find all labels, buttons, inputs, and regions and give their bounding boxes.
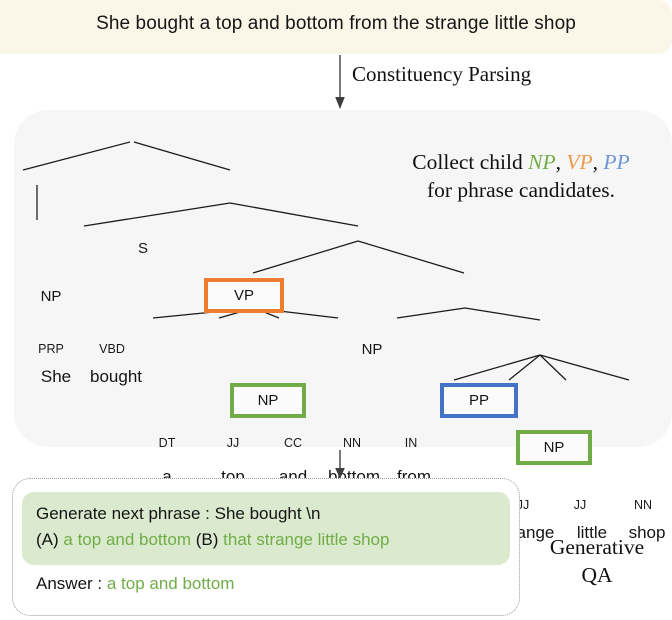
collect-note-sep-2: , — [593, 150, 604, 174]
tree-node-np-label-1: NP — [258, 392, 279, 409]
collect-child-note: Collect child NP, VP, PPfor phrase candi… — [386, 148, 656, 205]
tree-node-pp-label: PP — [469, 392, 489, 409]
option-b-text[interactable]: that strange little shop — [223, 530, 389, 549]
tree-node-np-object: NP — [362, 341, 383, 358]
generative-qa-side-label: Generative QA — [524, 534, 670, 590]
generative-qa-line-2: QA — [581, 563, 612, 587]
collect-note-suffix: for phrase candidates. — [427, 178, 615, 202]
option-a-tag: (A) — [36, 530, 59, 549]
parse-tree-panel: S NP NP VP NP PP NP PRP VBD DT JJ CC NN … — [14, 110, 672, 447]
qa-prompt-line-2: (A) a top and bottom (B) that strange li… — [36, 527, 496, 553]
pos-tag: NN — [343, 436, 361, 450]
leaf-word: She — [41, 367, 71, 387]
option-a-text[interactable]: a top and bottom — [63, 530, 191, 549]
tree-node-np-boxed-2[interactable]: NP — [516, 430, 592, 465]
leaf-word: bought — [90, 367, 142, 387]
input-sentence-text: She bought a top and bottom from the str… — [0, 13, 672, 35]
pos-tag: JJ — [574, 498, 587, 512]
collect-note-prefix: Collect child — [412, 150, 528, 174]
tree-node-np-subject: NP — [41, 288, 62, 305]
qa-answer-label: Answer : — [36, 574, 107, 593]
generative-qa-line-1: Generative — [550, 535, 644, 559]
qa-answer-text: a top and bottom — [107, 574, 235, 593]
qa-answer-line: Answer : a top and bottom — [36, 574, 234, 594]
pos-tag: NN — [634, 498, 652, 512]
pos-tag: PRP — [38, 342, 64, 356]
tree-node-np-label-2: NP — [544, 439, 565, 456]
tree-node-np-boxed-1[interactable]: NP — [230, 383, 306, 418]
collect-note-np: NP — [528, 150, 555, 174]
qa-prompt-panel: Generate next phrase : She bought \n (A)… — [22, 492, 510, 565]
input-sentence-banner: She bought a top and bottom from the str… — [0, 0, 672, 54]
pos-tag: JJ — [227, 436, 240, 450]
qa-prompt-line-1: Generate next phrase : She bought \n — [36, 501, 496, 527]
down-arrow-icon — [330, 55, 350, 111]
pos-tag: IN — [405, 436, 418, 450]
tree-node-vp-boxed[interactable]: VP — [204, 278, 284, 313]
tree-node-pp-boxed[interactable]: PP — [440, 383, 518, 418]
tree-node-vp-label: VP — [234, 287, 254, 304]
collect-note-vp: VP — [566, 150, 592, 174]
collect-note-sep-1: , — [556, 150, 567, 174]
constituency-parsing-caption: Constituency Parsing — [352, 62, 531, 87]
collect-note-pp: PP — [603, 150, 629, 174]
pos-tag: DT — [159, 436, 176, 450]
pos-tag: VBD — [99, 342, 125, 356]
tree-node-s: S — [138, 240, 148, 257]
pos-tag: CC — [284, 436, 302, 450]
option-b-tag: (B) — [196, 530, 219, 549]
down-arrow-icon-qa — [330, 450, 350, 480]
